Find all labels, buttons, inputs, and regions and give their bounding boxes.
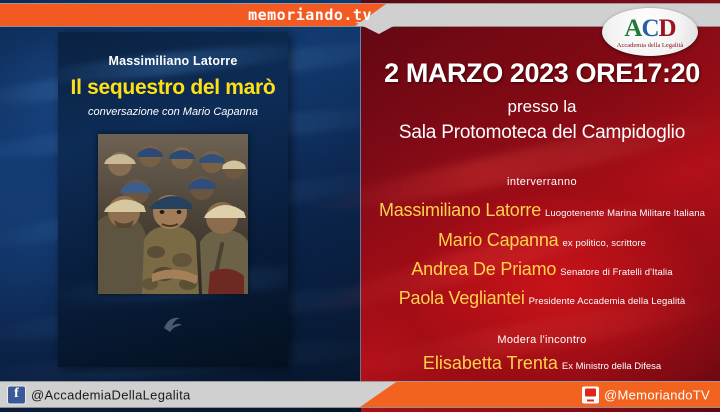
logo-letter-d: D (659, 15, 676, 42)
logo-letter-c: C (641, 15, 658, 42)
book-cover: Massimiliano Latorre Il sequestro del ma… (58, 32, 288, 367)
logo-caption: Accademia della Legalità (617, 42, 683, 49)
event-date-time: 2 MARZO 2023 ORE17:20 (364, 58, 720, 89)
speakers-heading: interverranno (364, 176, 720, 188)
soldier-crowd-photo-illustration (98, 134, 248, 294)
moderator-name: Elisabetta Trenta (423, 353, 558, 373)
book-author: Massimiliano Latorre (58, 54, 288, 68)
speaker-name: Andrea De Priamo (411, 259, 556, 279)
speaker-row: Andrea De PriamoSenatore di Fratelli d'I… (364, 259, 720, 280)
book-subtitle: conversazione con Mario Capanna (58, 106, 288, 118)
publisher-logo (160, 314, 186, 334)
bottom-social-bar: @AccademiaDellaLegalita @MemoriandoTV (0, 381, 720, 408)
memoriando-brand-text: memoriando.tv (248, 6, 372, 24)
book-cover-photo (98, 134, 248, 294)
panel-divider (360, 26, 361, 382)
book-title: Il sequestro del marò (58, 76, 288, 100)
event-details-panel: 2 MARZO 2023 ORE17:20 presso la Sala Pro… (364, 0, 720, 412)
moderator-role: Ex Ministro della Difesa (562, 361, 661, 372)
event-poster: Massimiliano Latorre Il sequestro del ma… (0, 0, 720, 412)
speaker-row: Mario Capannaex politico, scrittore (364, 230, 720, 251)
speaker-role: Luogotenente Marina Militare Italiana (545, 208, 705, 219)
event-presso-label: presso la (364, 97, 720, 117)
speaker-name: Mario Capanna (438, 230, 558, 250)
speaker-row: Paola VeglianteiPresidente Accademia del… (364, 288, 720, 309)
facebook-handle-group[interactable]: @AccademiaDellaLegalita (7, 385, 191, 404)
speaker-name: Massimiliano Latorre (379, 200, 541, 220)
tv-monitor-icon[interactable] (582, 386, 599, 403)
speaker-role: Presidente Accademia della Legalità (529, 296, 686, 307)
memoriando-tv-handle-label[interactable]: @MemoriandoTV (604, 387, 710, 402)
speaker-role: ex politico, scrittore (562, 238, 646, 249)
speaker-name: Paola Vegliantei (399, 288, 525, 308)
event-venue: Sala Protomoteca del Campidoglio (364, 122, 720, 144)
bottom-bar-notch (350, 381, 396, 383)
moderator-row: Elisabetta TrentaEx Ministro della Difes… (364, 353, 720, 374)
moderator-heading: Modera l'incontro (364, 334, 720, 346)
logo-letters: ACD (624, 16, 675, 41)
memoriando-tv-handle-group[interactable]: @MemoriandoTV (582, 386, 710, 403)
speaker-row: Massimiliano LatorreLuogotenente Marina … (364, 200, 720, 221)
facebook-handle-label[interactable]: @AccademiaDellaLegalita (31, 387, 191, 402)
logo-letter-a: A (624, 15, 641, 42)
accademia-della-legalita-logo: ACD Accademia della Legalità (602, 8, 698, 56)
speaker-role: Senatore di Fratelli d'Italia (560, 267, 672, 278)
facebook-icon[interactable] (7, 385, 26, 404)
